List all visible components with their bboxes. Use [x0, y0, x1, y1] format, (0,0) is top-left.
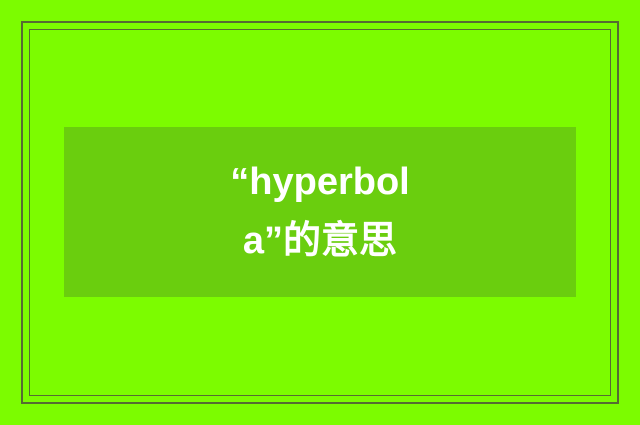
banner-canvas: “hyperbola”的意思 [0, 0, 640, 425]
headline-text: “hyperbola”的意思 [220, 153, 420, 271]
headline-panel: “hyperbola”的意思 [64, 127, 576, 297]
